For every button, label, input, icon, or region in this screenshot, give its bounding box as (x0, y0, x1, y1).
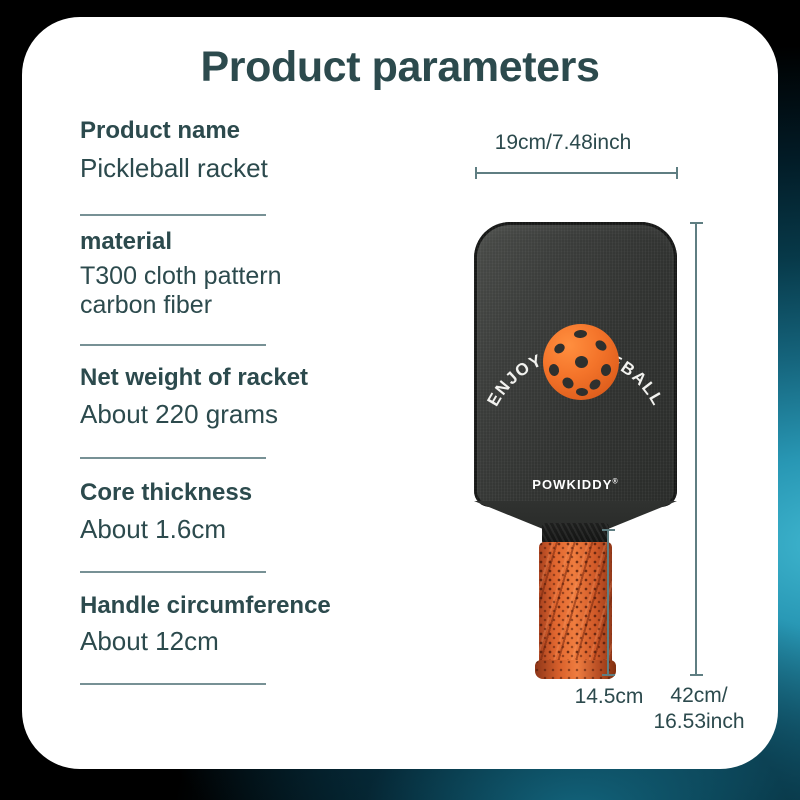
spec-label: Product name (80, 117, 438, 145)
ball-hole (560, 375, 576, 391)
dimension-label-total-length: 42cm/ 16.53inch (644, 683, 754, 736)
spec-divider (80, 457, 266, 459)
spec-item-material: material T300 cloth pattern carbon fiber (58, 228, 438, 319)
ball-hole (600, 363, 613, 377)
content-card: Product parameters Product name Pickleba… (22, 17, 778, 769)
ball-hole (594, 338, 609, 352)
spec-value: About 12cm (80, 627, 438, 657)
dimension-line-grip-length (602, 529, 615, 676)
spec-divider (80, 571, 266, 573)
ball-hole (588, 377, 603, 392)
spec-item-net-weight: Net weight of racket About 220 grams (58, 364, 438, 429)
dimension-line-width (475, 167, 678, 179)
ball-hole (576, 388, 589, 397)
product-parameters-page: Product parameters Product name Pickleba… (0, 0, 800, 800)
brand-name: POWKIDDY (532, 477, 612, 492)
spec-item-handle-circumference: Handle circumference About 12cm (58, 592, 438, 657)
spec-divider (80, 214, 266, 216)
ball-hole (574, 330, 588, 339)
spec-value: T300 cloth pattern carbon fiber (80, 262, 438, 319)
spec-item-product-name: Product name Pickleball racket (58, 117, 438, 184)
product-illustration: 19cm/7.48inch ENJOY PICKLEBALL (438, 17, 778, 769)
registered-mark-icon: ® (613, 479, 619, 486)
ball-hole (548, 363, 560, 377)
dimension-cap-bottom (602, 674, 615, 676)
spec-divider (80, 344, 266, 346)
pickleball-ball-graphic (543, 324, 619, 400)
pickleball-paddle: ENJOY PICKLEBALL POWKIDDY® (438, 205, 688, 680)
spec-list: Product name Pickleball racket material … (58, 117, 438, 685)
ball-hole (575, 356, 588, 368)
dimension-bar (475, 172, 678, 174)
spec-item-core-thickness: Core thickness About 1.6cm (58, 479, 438, 544)
dimension-cap-right (676, 167, 678, 179)
spec-value: About 220 grams (80, 400, 438, 430)
dimension-bar (607, 529, 609, 676)
ball-hole (552, 342, 566, 356)
brand-logo-text: POWKIDDY® (474, 477, 677, 492)
dimension-cap-bottom (690, 674, 703, 676)
dimension-bar (695, 222, 697, 676)
spec-value: About 1.6cm (80, 515, 438, 545)
dimension-line-total-length (690, 222, 703, 676)
spec-label: Handle circumference (80, 592, 438, 620)
spec-label: Core thickness (80, 479, 438, 507)
dimension-label-width: 19cm/7.48inch (438, 131, 688, 155)
spec-value: Pickleball racket (80, 154, 438, 184)
spec-divider (80, 683, 266, 685)
spec-label: material (80, 228, 438, 256)
spec-label: Net weight of racket (80, 364, 438, 392)
